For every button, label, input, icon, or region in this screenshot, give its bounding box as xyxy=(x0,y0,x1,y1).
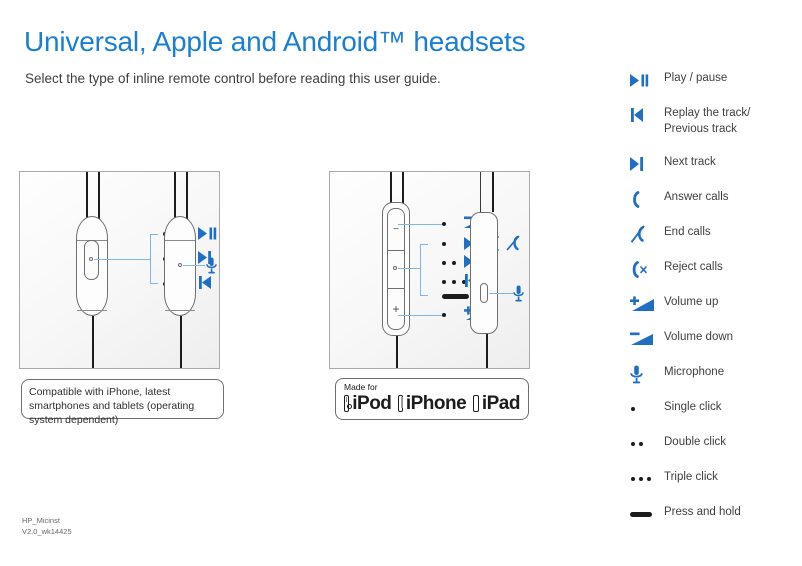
ipad-icon xyxy=(473,395,479,412)
apple-mic-remote-body xyxy=(470,212,498,334)
legend-label-line1: Replay the track/ xyxy=(664,107,750,119)
cable-right-a-lower xyxy=(486,334,488,368)
end-call-icon xyxy=(630,224,664,243)
legend-label: Answer calls xyxy=(664,189,729,206)
microphone-icon xyxy=(630,364,664,383)
cable-right-2 xyxy=(186,172,188,220)
legend-label: Volume down xyxy=(664,329,733,346)
volume-up-segment-label: + xyxy=(387,303,405,315)
legend-item-volume-down: Volume down xyxy=(630,329,800,364)
legend-label: Single click xyxy=(664,399,722,416)
legend-item-microphone: Microphone xyxy=(630,364,800,399)
marker-double-click-apple xyxy=(442,261,456,265)
leader-volume-down xyxy=(398,224,442,225)
previous-track-icon xyxy=(198,276,212,289)
legend-item-double-click: Double click xyxy=(630,434,800,469)
universal-headset-diagram xyxy=(19,171,220,369)
legend-label: Reject calls xyxy=(664,259,723,276)
legend-label-line2: Previous track xyxy=(664,123,737,135)
mic-seam-top xyxy=(165,231,195,241)
annotation-bracket xyxy=(150,234,151,284)
legend-item-volume-up: Volume up xyxy=(630,294,800,329)
press-hold-icon xyxy=(630,504,664,523)
legend-label: Triple click xyxy=(664,469,718,486)
microphone-icon xyxy=(206,257,217,274)
made-for-label: Made for xyxy=(344,383,520,392)
legend-item-answer-calls: Answer calls xyxy=(630,189,800,224)
apple-annotation-bracket xyxy=(420,244,421,296)
leader-line-button xyxy=(94,259,150,260)
actions-row-3 xyxy=(198,276,212,289)
legend-label: Next track xyxy=(664,154,716,171)
answer-call-icon xyxy=(630,189,664,208)
cable-left-a2 xyxy=(402,172,404,204)
document-footer: HP_Micinst V2.0_wk14425 xyxy=(22,516,72,538)
next-track-icon xyxy=(630,154,664,173)
legend-label: Double click xyxy=(664,434,726,451)
apple-headset-diagram: − + xyxy=(329,171,530,369)
marker-single-click-vol-up xyxy=(442,313,446,317)
single-click-icon xyxy=(630,399,664,418)
cable-left-a xyxy=(390,172,392,204)
legend-item-single-click: Single click xyxy=(630,399,800,434)
microphone-hole xyxy=(178,263,182,267)
footer-line-2: V2.0_wk14425 xyxy=(22,527,72,538)
legend-label: Press and hold xyxy=(664,504,741,521)
end-call-icon xyxy=(506,235,520,251)
volume-up-icon xyxy=(630,294,664,313)
legend-item-end-calls: End calls xyxy=(630,224,800,259)
cable-right-lower xyxy=(180,316,182,368)
cable-left-2 xyxy=(98,172,100,220)
ipad-label: iPad xyxy=(482,394,520,413)
universal-caption-text: Compatible with iPhone, latest smartphon… xyxy=(29,385,216,428)
marker-single-click-apple xyxy=(442,242,446,246)
center-button-pinhole xyxy=(393,266,397,270)
cable-right xyxy=(174,172,176,220)
leader-line-microphone xyxy=(183,265,205,266)
universal-caption-box: Compatible with iPhone, latest smartphon… xyxy=(21,379,224,419)
actions-row-1 xyxy=(198,225,220,241)
legend-item-reject-calls: Reject calls xyxy=(630,259,800,294)
cable-right-a2 xyxy=(492,172,494,212)
legend-label: Replay the track/ Previous track xyxy=(664,105,750,137)
microphone-slot[interactable] xyxy=(480,283,488,303)
user-guide-page: Universal, Apple and Android™ headsets S… xyxy=(0,0,802,566)
legend-item-play-pause: Play / pause xyxy=(630,70,800,105)
page-subtitle: Select the type of inline remote control… xyxy=(25,71,441,86)
cable-left xyxy=(86,172,88,220)
leader-center-button xyxy=(398,268,420,269)
ipod-label: iPod xyxy=(352,394,391,413)
cable-right-a xyxy=(480,172,481,212)
remote-seam-bottom xyxy=(77,301,107,311)
leader-line-microphone-apple xyxy=(489,293,513,294)
leader-volume-up xyxy=(398,315,442,316)
mic-seam-bottom xyxy=(165,301,195,311)
button-center-pinhole xyxy=(89,257,93,261)
reject-call-icon xyxy=(630,259,664,278)
cable-left-lower xyxy=(92,316,94,368)
microphone-icon xyxy=(513,285,524,302)
page-title: Universal, Apple and Android™ headsets xyxy=(24,26,525,58)
segment-divider-top xyxy=(387,250,405,251)
ipod-icon xyxy=(344,395,349,412)
iphone-icon xyxy=(398,395,402,412)
marker-press-hold-apple xyxy=(442,294,469,299)
legend-item-next-track: Next track xyxy=(630,154,800,189)
legend-item-press-and-hold: Press and hold xyxy=(630,504,800,539)
volume-down-segment-label: − xyxy=(387,225,405,235)
legend-label: End calls xyxy=(664,224,711,241)
marker-triple-click-apple xyxy=(442,280,466,284)
made-for-device-row: iPod iPhone iPad xyxy=(344,394,520,413)
legend-item-triple-click: Triple click xyxy=(630,469,800,504)
legend-label: Volume up xyxy=(664,294,718,311)
footer-line-1: HP_Micinst xyxy=(22,516,72,527)
cable-left-a-lower xyxy=(396,336,398,368)
made-for-badge: Made for iPod iPhone iPad xyxy=(335,378,529,420)
legend-label: Microphone xyxy=(664,364,724,381)
legend-item-previous-track: Replay the track/ Previous track xyxy=(630,105,800,154)
legend-label: Play / pause xyxy=(664,70,727,87)
iphone-label: iPhone xyxy=(406,394,466,413)
play-pause-icon xyxy=(198,227,217,240)
marker-single-click-vol-down xyxy=(442,222,446,226)
play-pause-icon xyxy=(630,70,664,89)
double-click-icon xyxy=(630,434,664,453)
segment-divider-bottom xyxy=(387,288,405,289)
legend-list: Play / pause Replay the track/ Previous … xyxy=(630,70,800,539)
previous-track-icon xyxy=(630,105,664,124)
volume-down-icon xyxy=(630,329,664,348)
triple-click-icon xyxy=(630,469,664,488)
